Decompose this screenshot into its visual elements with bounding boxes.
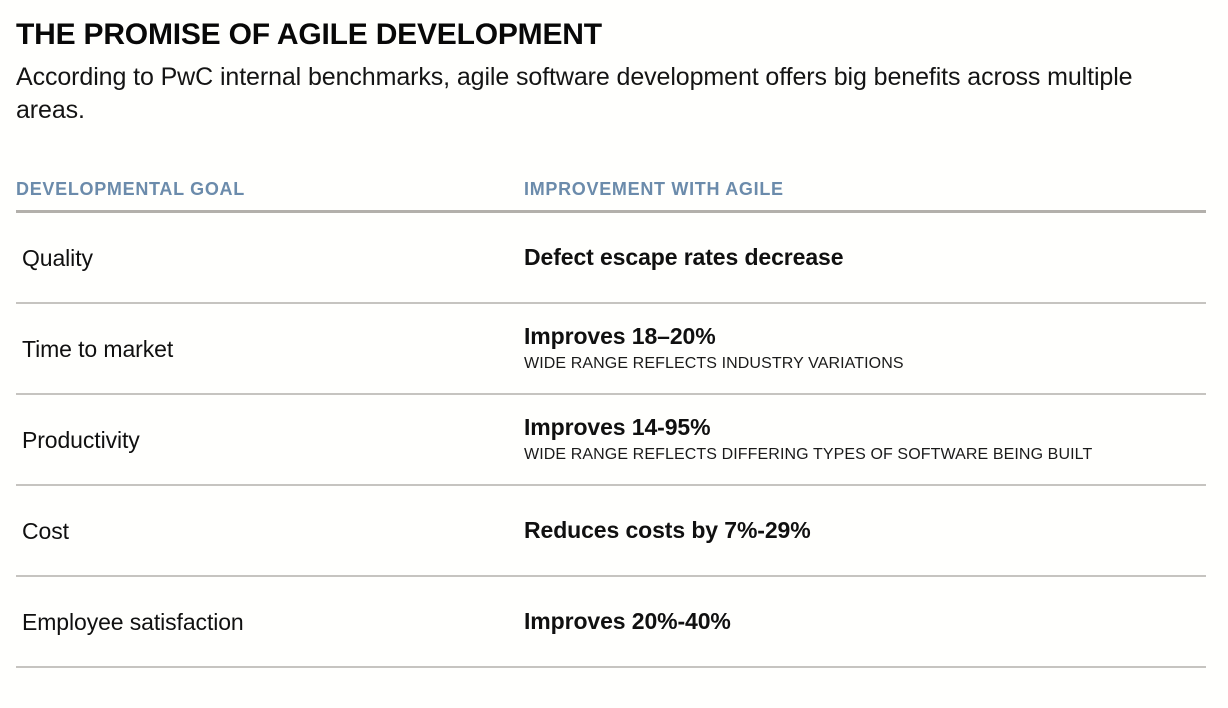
row-improvement-cell: Improves 14-95% WIDE RANGE REFLECTS DIFF…: [524, 413, 1206, 466]
row-improvement-value: Improves 18–20%: [524, 322, 1206, 351]
table-row: Time to market Improves 18–20% WIDE RANG…: [16, 304, 1206, 393]
row-goal-label: Productivity: [16, 426, 524, 454]
row-improvement-caption: WIDE RANGE REFLECTS DIFFERING TYPES OF S…: [524, 444, 1206, 466]
row-goal-label: Time to market: [16, 335, 524, 363]
row-improvement-cell: Defect escape rates decrease: [524, 243, 1206, 272]
row-improvement-cell: Improves 18–20% WIDE RANGE REFLECTS INDU…: [524, 322, 1206, 375]
table-row: Productivity Improves 14-95% WIDE RANGE …: [16, 395, 1206, 484]
table-row: Cost Reduces costs by 7%-29%: [16, 486, 1206, 575]
page-subtitle: According to PwC internal benchmarks, ag…: [16, 52, 1166, 127]
row-improvement-caption: WIDE RANGE REFLECTS INDUSTRY VARIATIONS: [524, 353, 1206, 375]
row-improvement-value: Reduces costs by 7%-29%: [524, 516, 1206, 545]
column-header-improvement-with-agile: IMPROVEMENT WITH AGILE: [524, 179, 1206, 199]
row-improvement-value: Improves 20%-40%: [524, 607, 1206, 636]
table-bottom-divider: [16, 666, 1206, 668]
row-goal-label: Employee satisfaction: [16, 608, 524, 636]
row-goal-label: Cost: [16, 517, 524, 545]
row-goal-label: Quality: [16, 244, 524, 272]
table-header-row: DEVELOPMENTAL GOAL IMPROVEMENT WITH AGIL…: [16, 169, 1206, 199]
table-row: Employee satisfaction Improves 20%-40%: [16, 577, 1206, 666]
row-improvement-value: Defect escape rates decrease: [524, 243, 1206, 272]
row-improvement-cell: Reduces costs by 7%-29%: [524, 516, 1206, 545]
table-row: Quality Defect escape rates decrease: [16, 213, 1206, 302]
benefits-table: DEVELOPMENTAL GOAL IMPROVEMENT WITH AGIL…: [16, 169, 1206, 668]
column-header-developmental-goal: DEVELOPMENTAL GOAL: [16, 179, 524, 199]
row-improvement-value: Improves 14-95%: [524, 413, 1206, 442]
infographic-page: THE PROMISE OF AGILE DEVELOPMENT Accordi…: [0, 0, 1228, 708]
page-title: THE PROMISE OF AGILE DEVELOPMENT: [16, 0, 1212, 52]
row-improvement-cell: Improves 20%-40%: [524, 607, 1206, 636]
